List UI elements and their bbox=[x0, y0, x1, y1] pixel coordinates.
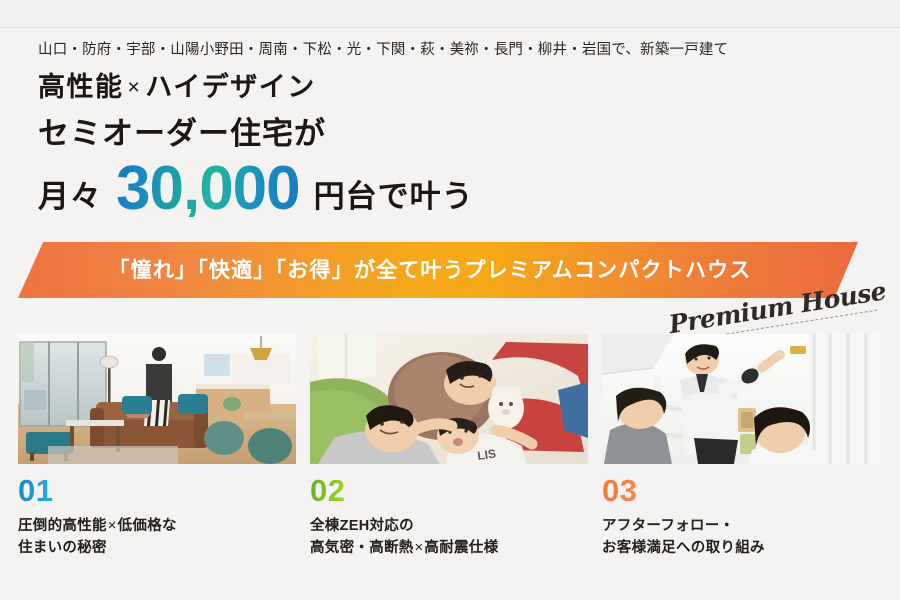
price-suffix-label: 円台で叶う bbox=[314, 181, 474, 212]
feature-card-03-description: アフターフォロー・ お客様満足への取り組み bbox=[602, 515, 880, 559]
card-01-desc-part2: 低価格な bbox=[118, 518, 177, 534]
feature-card-01-number: 01 bbox=[18, 475, 53, 506]
hero-subheadline-part1: 高性能 bbox=[38, 72, 124, 102]
svg-text:LIS: LIS bbox=[476, 447, 496, 463]
hero-headline: セミオーダー住宅が bbox=[38, 117, 900, 151]
hero-price-line: 月々 30,000 円台で叶う bbox=[38, 160, 900, 217]
price-prefix-label: 月々 bbox=[38, 181, 102, 212]
card-01-desc-part1: 圧倒的高性能 bbox=[18, 518, 107, 534]
price-amount: 30,000 bbox=[102, 160, 314, 217]
feature-card-02-number: 02 bbox=[310, 475, 345, 506]
card-02-desc-line2a: 高気密・高断熱 bbox=[310, 540, 414, 556]
card-03-desc-line2: お客様満足への取り組み bbox=[602, 540, 765, 556]
feature-card-03[interactable]: 03 アフターフォロー・ お客様満足への取り組み bbox=[602, 334, 880, 559]
feature-card-02[interactable]: LIS 02 全棟ZEH対応の 高気密・高断熱×高耐震仕様 bbox=[310, 334, 588, 559]
hero-kicker-text: 山口・防府・宇部・山陽小野田・周南・下松・光・下関・萩・美祢・長門・柳井・岩国で… bbox=[38, 42, 900, 59]
card-01-desc-line2: 住まいの秘密 bbox=[18, 540, 107, 556]
card-02-desc-line1: 全棟ZEH対応の bbox=[310, 518, 414, 534]
feature-card-list: 01 圧倒的高性能×低価格な 住まいの秘密 bbox=[18, 334, 882, 559]
hero-section: 山口・防府・宇部・山陽小野田・周南・下松・光・下関・萩・美祢・長門・柳井・岩国で… bbox=[0, 28, 900, 217]
feature-card-03-number: 03 bbox=[602, 475, 637, 506]
living-room-interior-photo bbox=[18, 334, 296, 464]
promo-banner-area: 「憧れ」「快適」「お得」が全て叶うプレミアムコンパクトハウス Premium H… bbox=[0, 238, 900, 324]
card-02-desc-line2b: 高耐震仕様 bbox=[424, 540, 498, 556]
hero-subheadline: 高性能×ハイデザイン bbox=[38, 73, 900, 103]
top-divider-band bbox=[0, 0, 900, 28]
multiply-icon: × bbox=[107, 518, 118, 534]
family-relaxing-on-floor-photo: LIS bbox=[310, 334, 588, 464]
feature-card-02-description: 全棟ZEH対応の 高気密・高断熱×高耐震仕様 bbox=[310, 515, 588, 559]
promo-banner: 「憧れ」「快適」「お得」が全て叶うプレミアムコンパクトハウス bbox=[18, 242, 858, 298]
promo-banner-text: 「憧れ」「快適」「お得」が全て叶うプレミアムコンパクトハウス bbox=[108, 260, 751, 281]
multiply-icon: × bbox=[124, 76, 146, 99]
card-03-desc-line1: アフターフォロー・ bbox=[602, 518, 734, 534]
feature-card-01-description: 圧倒的高性能×低価格な 住まいの秘密 bbox=[18, 515, 296, 559]
feature-card-01[interactable]: 01 圧倒的高性能×低価格な 住まいの秘密 bbox=[18, 334, 296, 559]
hero-subheadline-part2: ハイデザイン bbox=[145, 72, 315, 102]
multiply-icon: × bbox=[414, 540, 425, 556]
staff-explaining-to-customers-photo bbox=[602, 334, 880, 464]
